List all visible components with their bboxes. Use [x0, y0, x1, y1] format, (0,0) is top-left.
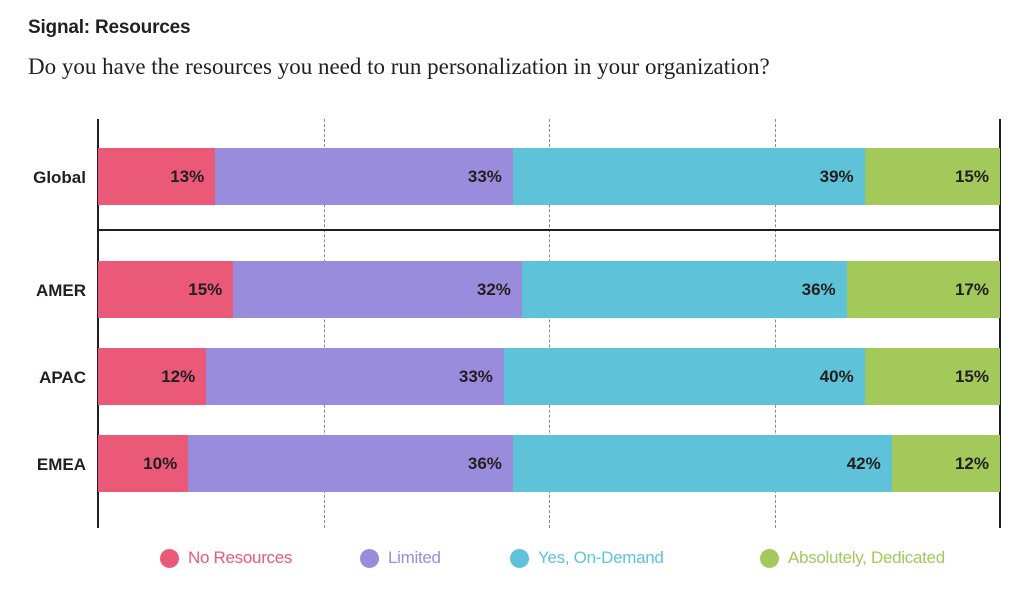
bar-segment: 36%	[188, 435, 513, 492]
bar-segment: 40%	[504, 348, 865, 405]
bar-row: AMER15%32%36%17%	[98, 261, 1000, 318]
bar-segment: 33%	[215, 148, 513, 205]
chart-plot-area: Global13%33%39%15%AMER15%32%36%17%APAC12…	[98, 119, 1000, 528]
circle-icon	[510, 549, 529, 568]
circle-icon	[760, 549, 779, 568]
legend-item-label: Absolutely, Dedicated	[788, 548, 945, 568]
bar-segment: 42%	[513, 435, 892, 492]
bar-row-label: EMEA	[10, 455, 86, 475]
bar-segment: 17%	[847, 261, 1000, 318]
bar-segment: 36%	[522, 261, 847, 318]
bar-row-label: APAC	[10, 368, 86, 388]
legend-item[interactable]: No Resources	[160, 543, 292, 573]
legend-item-label: Limited	[388, 548, 441, 568]
bar-segment: 15%	[98, 261, 233, 318]
circle-icon	[360, 549, 379, 568]
page-subtitle: Do you have the resources you need to ru…	[28, 54, 770, 80]
bar-segment: 15%	[865, 148, 1000, 205]
legend-item-label: No Resources	[188, 548, 292, 568]
legend-item[interactable]: Limited	[360, 543, 441, 573]
legend-item[interactable]: Yes, On-Demand	[510, 543, 664, 573]
bar-row: EMEA10%36%42%12%	[98, 435, 1000, 492]
bar-segment: 39%	[513, 148, 865, 205]
page-title: Signal: Resources	[28, 17, 190, 39]
bar-segment: 32%	[233, 261, 522, 318]
bar-segment: 33%	[206, 348, 504, 405]
legend-item-label: Yes, On-Demand	[538, 548, 664, 568]
chart-legend: No ResourcesLimitedYes, On-DemandAbsolut…	[98, 543, 1000, 573]
bar-segment: 10%	[98, 435, 188, 492]
chart-page: Signal: Resources Do you have the resour…	[0, 0, 1024, 595]
bar-segment: 15%	[865, 348, 1000, 405]
bar-row-label: Global	[10, 168, 86, 188]
bar-row: Global13%33%39%15%	[98, 148, 1000, 205]
legend-item[interactable]: Absolutely, Dedicated	[760, 543, 945, 573]
circle-icon	[160, 549, 179, 568]
bar-segment: 12%	[98, 348, 206, 405]
section-divider	[97, 229, 999, 231]
bar-row-label: AMER	[10, 281, 86, 301]
bar-row: APAC12%33%40%15%	[98, 348, 1000, 405]
bar-segment: 12%	[892, 435, 1000, 492]
bar-segment: 13%	[98, 148, 215, 205]
